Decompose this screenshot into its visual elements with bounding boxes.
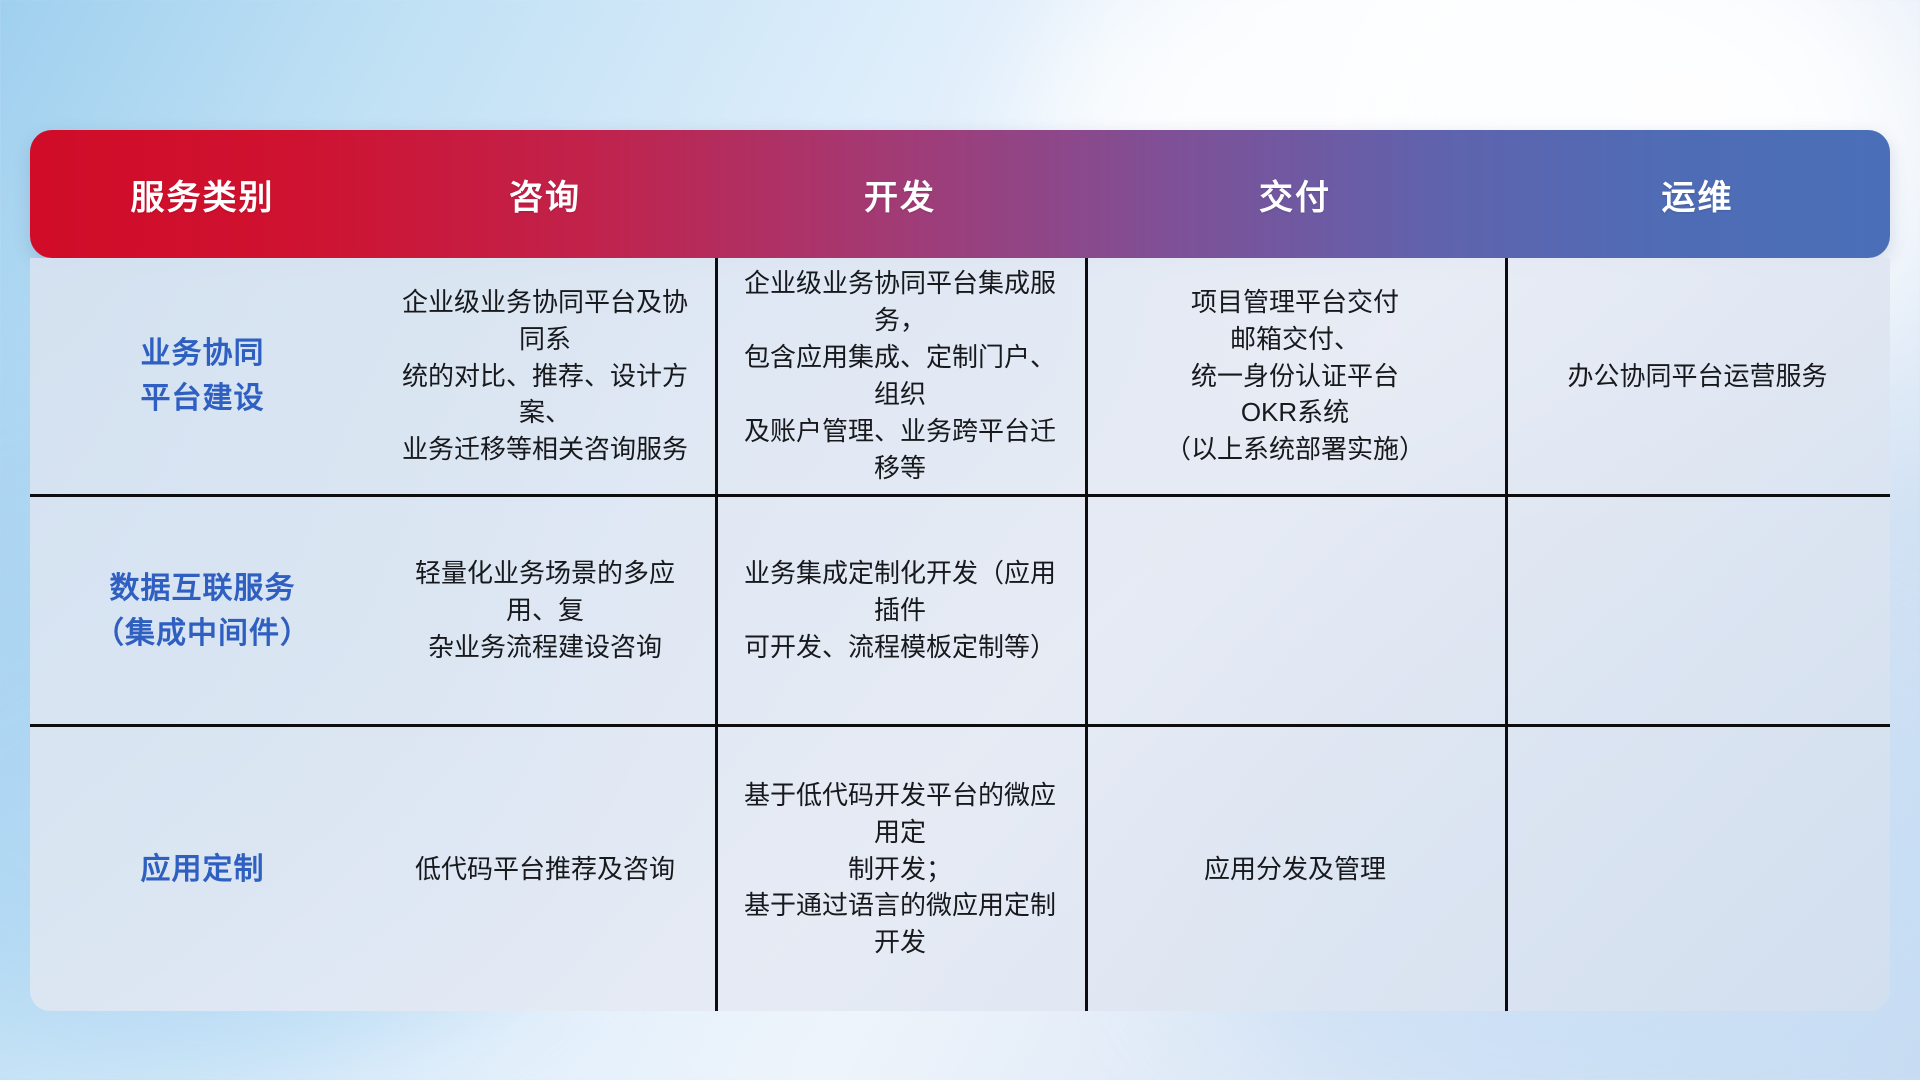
column-header-category: 服务类别	[30, 130, 375, 258]
column-header-delivery: 交付	[1085, 130, 1505, 258]
row-category-label: 应用定制	[30, 727, 375, 1011]
cell-operations	[1505, 497, 1890, 724]
table-header-row: 服务类别 咨询 开发 交付 运维	[30, 130, 1890, 258]
table-body: 业务协同 平台建设 企业级业务协同平台及协同系 统的对比、推荐、设计方案、 业务…	[30, 258, 1890, 1011]
cell-operations: 办公协同平台运营服务	[1505, 258, 1890, 494]
cell-development: 基于低代码开发平台的微应用定 制开发； 基于通过语言的微应用定制开发	[715, 727, 1085, 1011]
table-row: 业务协同 平台建设 企业级业务协同平台及协同系 统的对比、推荐、设计方案、 业务…	[30, 258, 1890, 494]
cell-development: 企业级业务协同平台集成服务， 包含应用集成、定制门户、组织 及账户管理、业务跨平…	[715, 258, 1085, 494]
row-category-label: 数据互联服务 （集成中间件）	[30, 497, 375, 724]
cell-consulting: 企业级业务协同平台及协同系 统的对比、推荐、设计方案、 业务迁移等相关咨询服务	[375, 258, 715, 494]
column-header-development: 开发	[715, 130, 1085, 258]
table-row: 数据互联服务 （集成中间件） 轻量化业务场景的多应用、复 杂业务流程建设咨询 业…	[30, 494, 1890, 724]
column-header-operations: 运维	[1505, 130, 1890, 258]
cell-delivery: 项目管理平台交付 邮箱交付、 统一身份认证平台 OKR系统 （以上系统部署实施）	[1085, 258, 1505, 494]
cell-development: 业务集成定制化开发（应用插件 可开发、流程模板定制等）	[715, 497, 1085, 724]
column-header-consulting: 咨询	[375, 130, 715, 258]
cell-delivery	[1085, 497, 1505, 724]
cell-operations	[1505, 727, 1890, 1011]
cell-consulting: 低代码平台推荐及咨询	[375, 727, 715, 1011]
service-matrix-table: 服务类别 咨询 开发 交付 运维 业务协同 平台建设 企业级业务协同平台及协同系…	[30, 130, 1890, 1011]
cell-delivery: 应用分发及管理	[1085, 727, 1505, 1011]
row-category-label: 业务协同 平台建设	[30, 258, 375, 494]
cell-consulting: 轻量化业务场景的多应用、复 杂业务流程建设咨询	[375, 497, 715, 724]
table-row: 应用定制 低代码平台推荐及咨询 基于低代码开发平台的微应用定 制开发； 基于通过…	[30, 724, 1890, 1011]
